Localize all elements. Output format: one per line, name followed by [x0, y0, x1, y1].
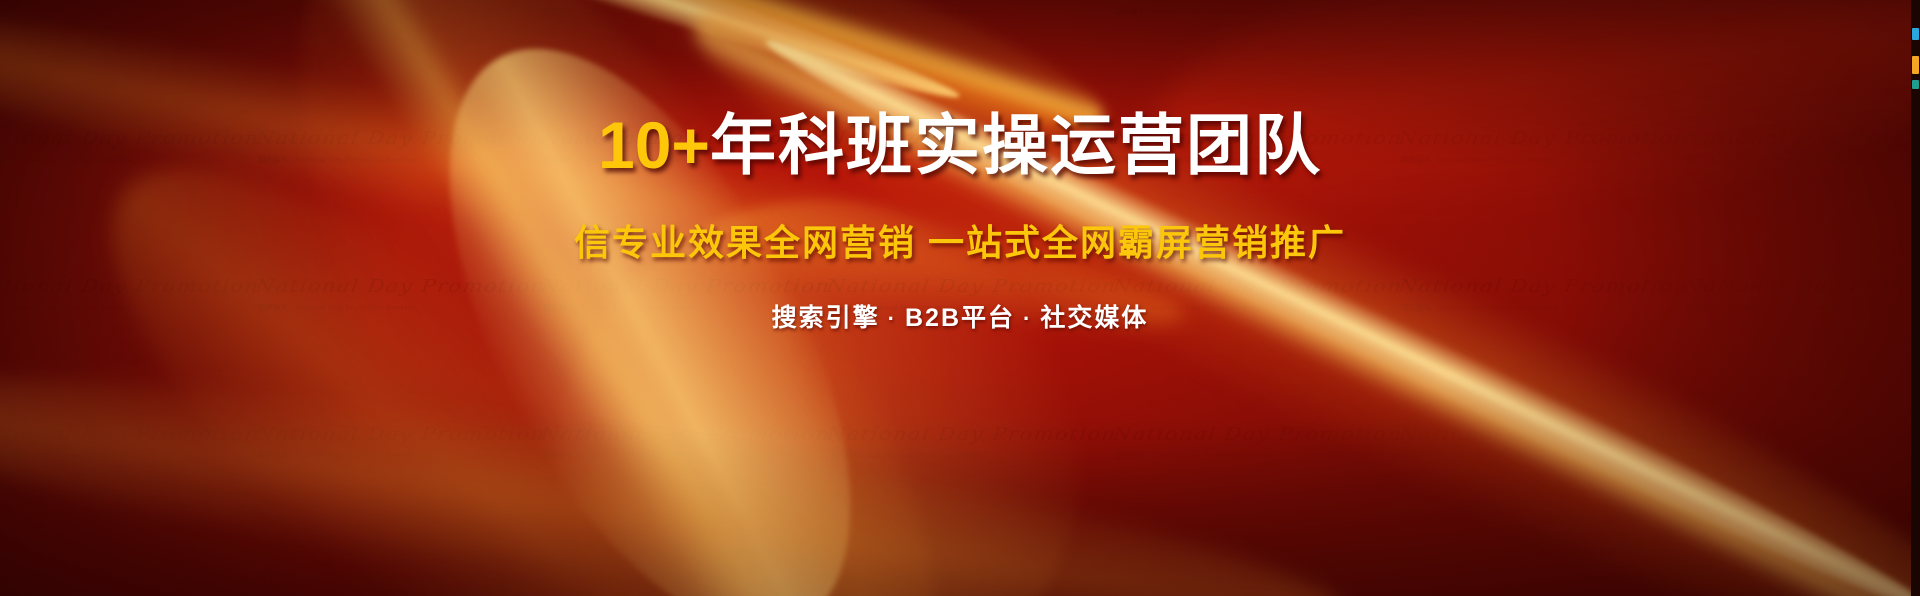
edge-chip-orange	[1912, 56, 1919, 74]
headline-number: 10+	[598, 108, 710, 182]
tagline-item-b2b-platform: B2B平台	[905, 304, 1015, 332]
promotional-banner: National Day Promotion国庆献礼National Day P…	[0, 0, 1920, 596]
tagline-separator-2: ·	[1023, 306, 1032, 331]
tagline-item-social-media: 社交媒体	[1040, 304, 1148, 332]
headline-text: 年科班实操运营团队	[710, 108, 1322, 182]
tagline: 搜索引擎·B2B平台·社交媒体	[772, 298, 1149, 334]
headline: 10+年科班实操运营团队	[598, 112, 1322, 178]
edge-chip-blue	[1912, 28, 1919, 40]
subline: 信专业效果全网营销 一站式全网霸屏营销推广	[574, 214, 1346, 266]
right-edge-strip	[1911, 0, 1920, 596]
banner-content: 10+年科班实操运营团队 信专业效果全网营销 一站式全网霸屏营销推广 搜索引擎·…	[0, 0, 1920, 596]
tagline-item-search-engine: 搜索引擎	[772, 304, 880, 332]
edge-chip-teal	[1912, 80, 1919, 89]
tagline-separator-1: ·	[888, 306, 897, 331]
